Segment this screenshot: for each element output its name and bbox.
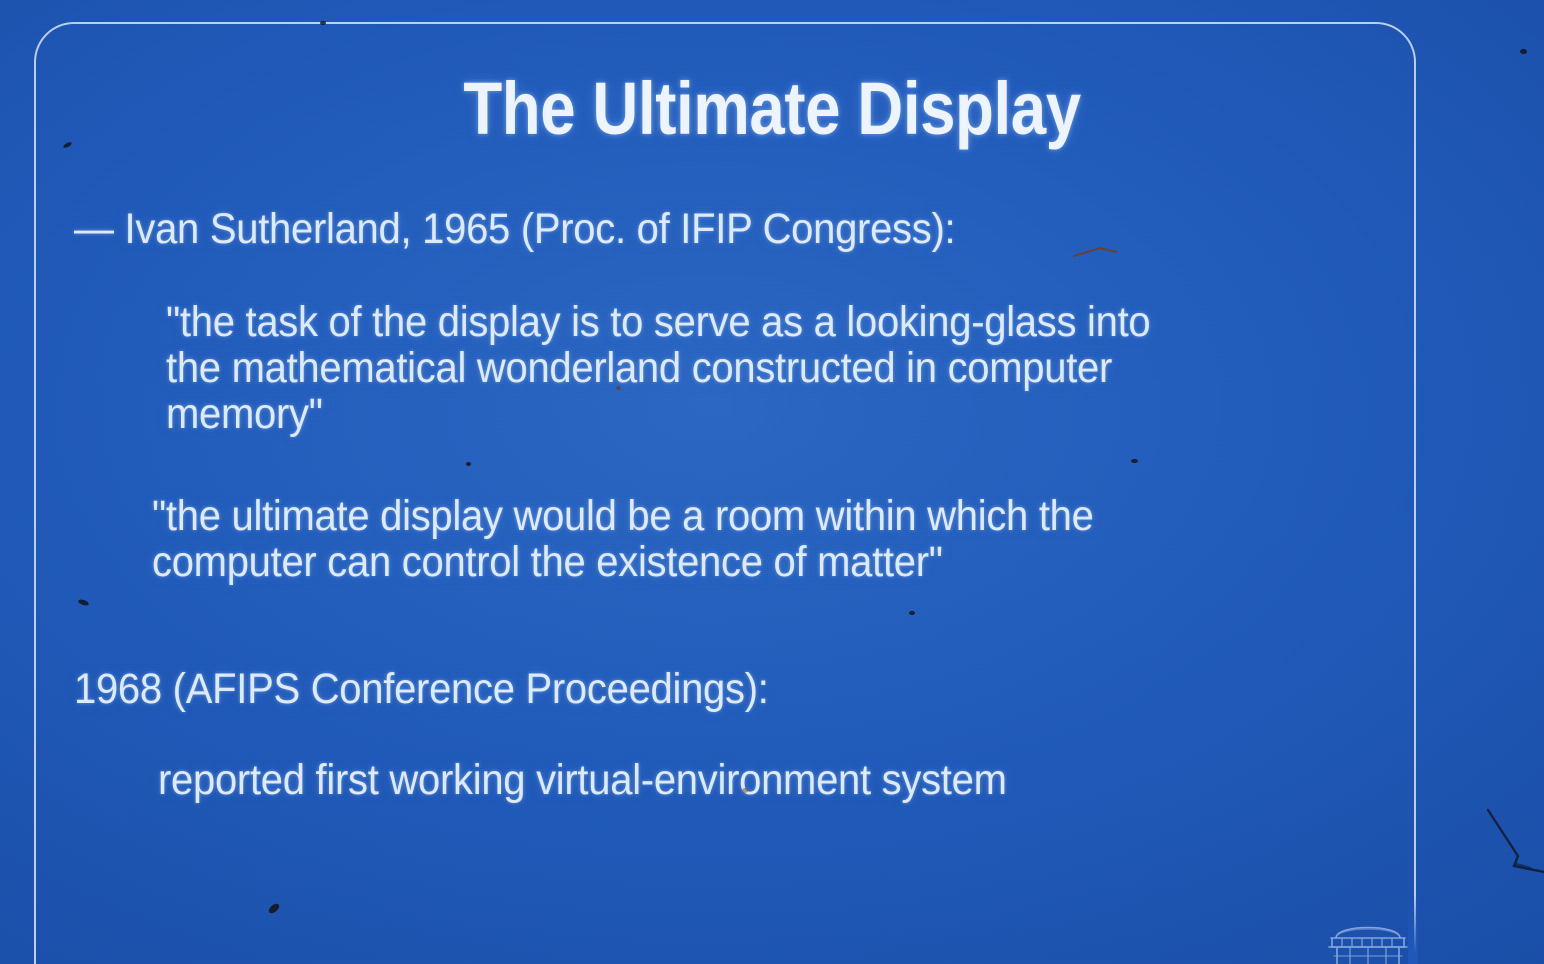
quote-one-line-3: memory" [166,390,323,439]
presentation-slide: The Ultimate Display — Ivan Sutherland, … [0,0,1544,964]
quote-one-line-2: the mathematical wonderland constructed … [166,344,1112,393]
attribution-line: — Ivan Sutherland, 1965 (Proc. of IFIP C… [74,205,955,254]
quote-one-line-1: "the task of the display is to serve as … [166,298,1150,347]
year-heading: 1968 (AFIPS Conference Proceedings): [74,665,769,714]
quote-two-line-2: computer can control the existence of ma… [152,538,943,587]
slide-content: The Ultimate Display — Ivan Sutherland, … [0,0,1544,964]
quote-two-line-1: "the ultimate display would be a room wi… [152,492,1094,541]
result-line: reported first working virtual-environme… [158,756,1007,805]
slide-title: The Ultimate Display [108,66,1436,151]
